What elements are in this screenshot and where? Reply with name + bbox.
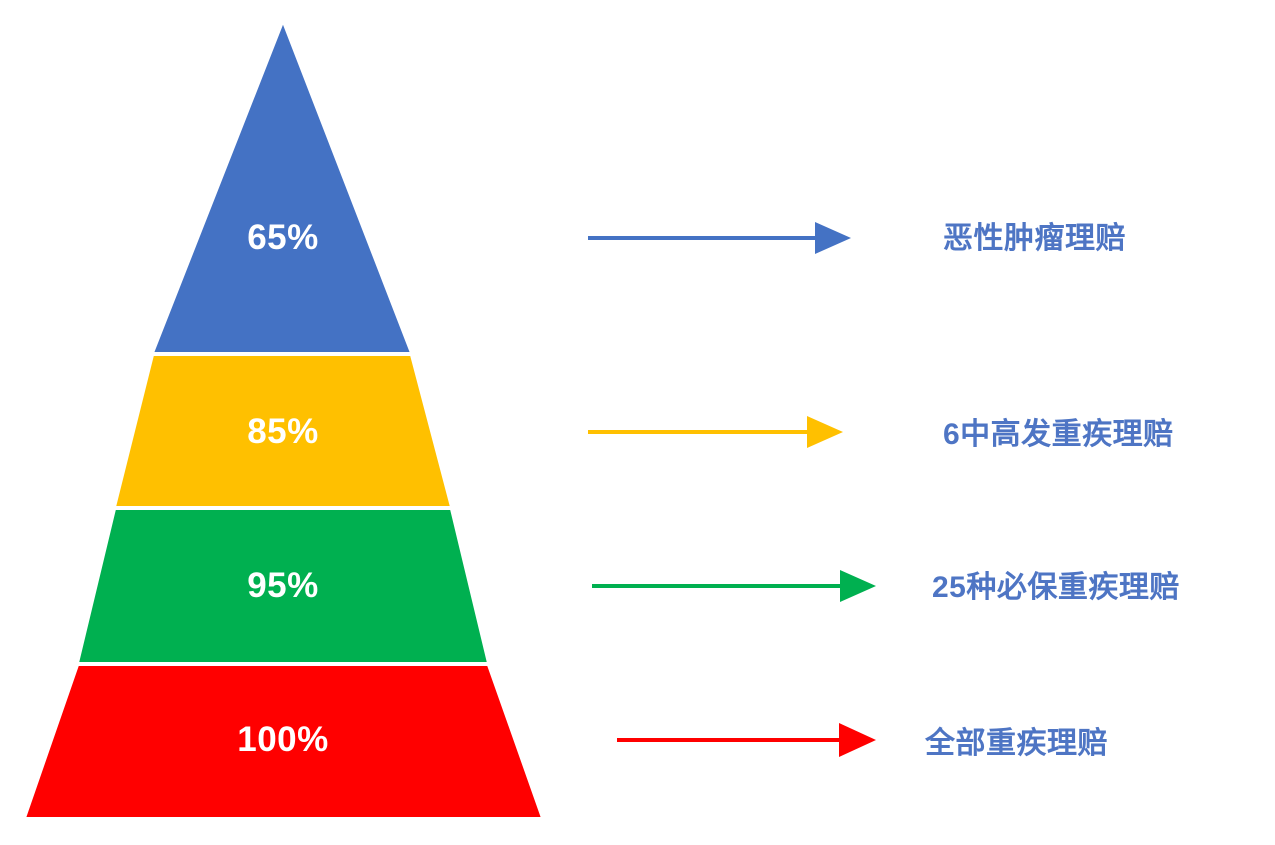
arrow-tier-2-icon xyxy=(588,416,843,448)
arrow-tier-1-icon xyxy=(588,222,851,254)
callout-label-tier-3: 25种必保重疾理赔 xyxy=(932,562,1180,606)
callout-label-tier-2: 6中高发重疾理赔 xyxy=(943,409,1174,453)
callout-label-tier-1: 恶性肿瘤理赔 xyxy=(943,213,1126,257)
diagram-canvas: 65% 85% 95% 100% 恶性肿瘤理赔 6中高发重疾理赔 25种必保重疾… xyxy=(0,0,1275,845)
arrow-tier-4-icon xyxy=(617,723,876,757)
arrow-tier-3-icon xyxy=(592,570,876,602)
callout-label-tier-4: 全部重疾理赔 xyxy=(925,718,1108,762)
